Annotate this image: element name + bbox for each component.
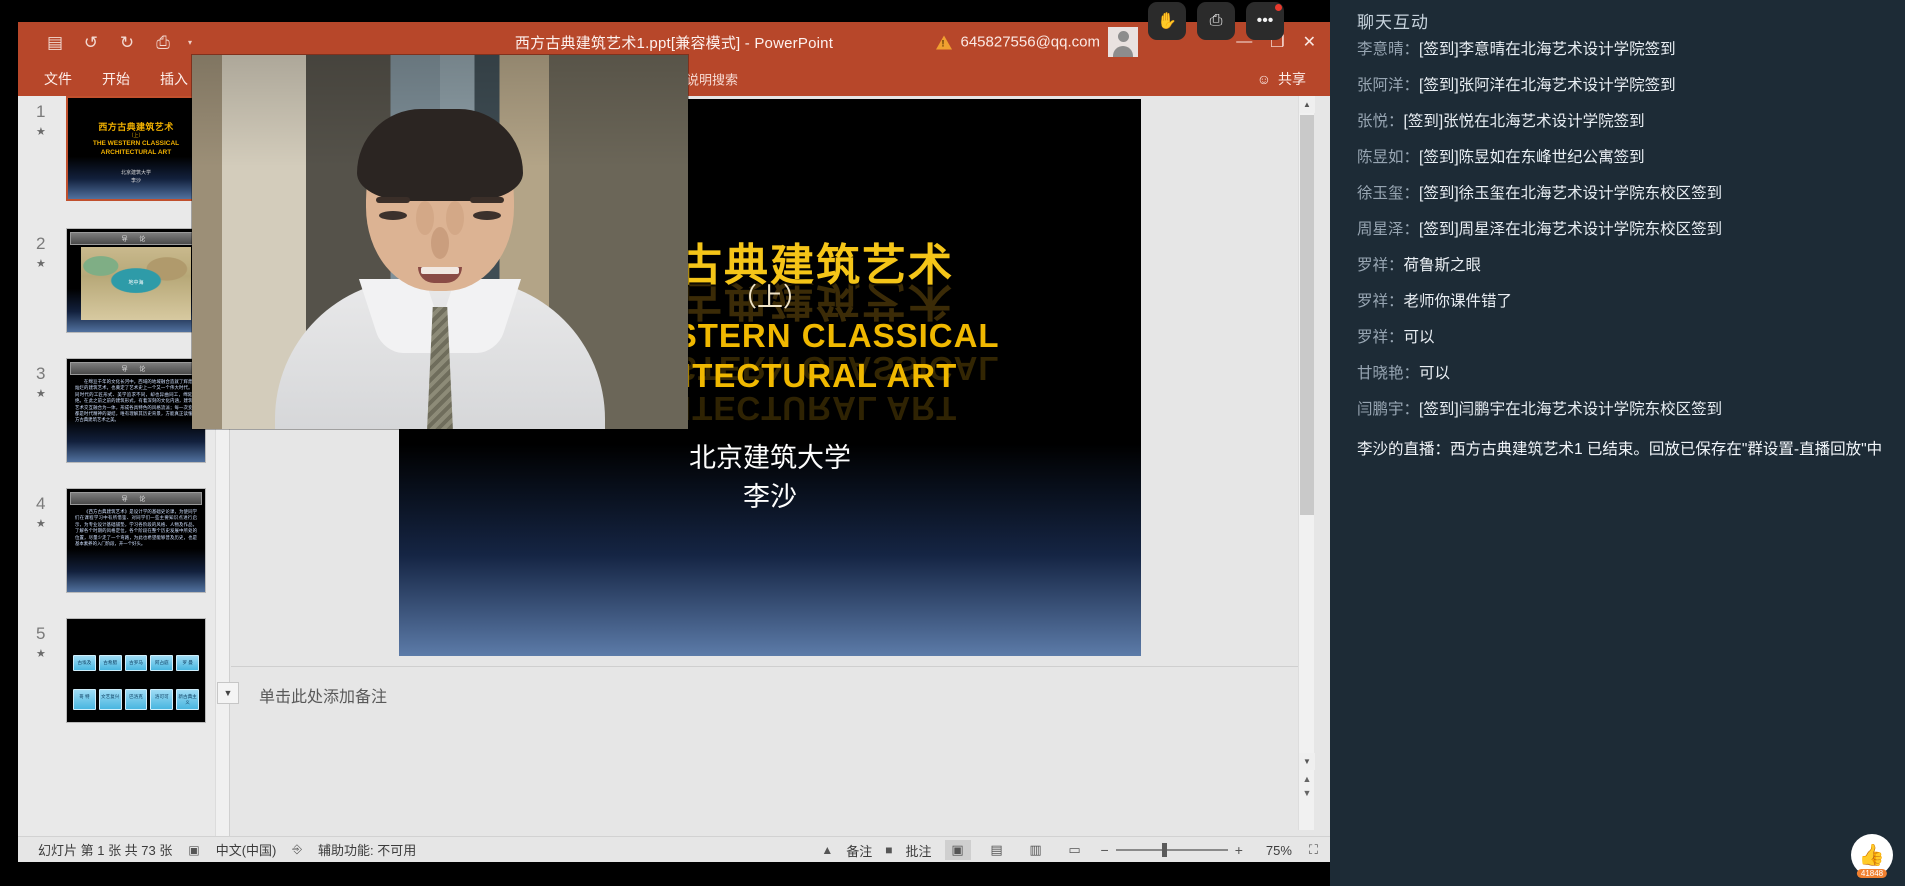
account-email: 645827556@qq.com: [961, 34, 1101, 51]
zoom-level: 75%: [1256, 843, 1292, 858]
thumbnail-item-4[interactable]: 4 ★ 导 论 《西方古典建筑艺术》是设计学的基础史论课，为使同学们在课程学习中…: [18, 488, 229, 616]
chat-message: 罗祥：老师你课件错了: [1357, 290, 1883, 314]
accessibility-icon: ⎆: [292, 842, 302, 857]
thumb-body-text: 《西方古典建筑艺术》是设计学的基础史论课，为使同学们在课程学习中有所借鉴、对同学…: [75, 509, 197, 547]
chat-message: 李意晴：[签到]李意晴在北海艺术设计学院签到: [1357, 38, 1883, 62]
chat-text: 可以: [1419, 365, 1450, 382]
notes-toggle-icon[interactable]: ▲: [821, 843, 833, 857]
chat-message: 罗祥：可以: [1357, 326, 1883, 350]
chat-message: 周星泽：[签到]周星泽在北海艺术设计学院东校区签到: [1357, 218, 1883, 242]
presenter-eye-right: [379, 211, 407, 220]
slide-organization: 北京建筑大学 李沙: [399, 439, 1141, 517]
zoom-slider[interactable]: − +: [1101, 842, 1243, 858]
meeting-float-toolbar: ✋ ⎙ •••: [1148, 2, 1284, 40]
screen: ▤ ↺ ↻ ⎙ ▾ 西方古典建筑艺术1.ppt[兼容模式] - PowerPoi…: [0, 0, 1905, 886]
chevron-down-icon[interactable]: ▾: [188, 38, 192, 47]
notes-collapse-icon[interactable]: ▼: [217, 682, 239, 704]
thumb-title-en-l1: THE WESTERN CLASSICAL: [68, 140, 204, 149]
normal-view-icon[interactable]: ▣: [945, 840, 971, 860]
chat-sender: 罗祥：: [1357, 329, 1404, 346]
chat-message: 张阿洋：[签到]张阿洋在北海艺术设计学院签到: [1357, 74, 1883, 98]
animation-star-icon: ★: [36, 125, 46, 138]
slide-org-line1: 北京建筑大学: [399, 439, 1141, 478]
accessibility-check-icon[interactable]: ▣: [188, 843, 199, 857]
chip: 古罗马: [125, 655, 148, 671]
thumb-title-en-l2: ARCHITECTURAL ART: [68, 149, 204, 158]
slide-counter: 幻灯片 第 1 张 共 73 张: [38, 840, 172, 859]
slideshow-view-icon[interactable]: ▭: [1062, 840, 1088, 860]
desktop-gutter-top: [0, 0, 1330, 22]
chat-sender: 李意晴：: [1357, 41, 1419, 58]
thumb-chip-row-1: 古埃及 古希腊 古罗马 阿占庭 罗 曼: [73, 655, 199, 671]
chip: 古希腊: [99, 655, 122, 671]
chat-sender: 张悦：: [1357, 113, 1404, 130]
notification-dot: [1275, 4, 1282, 11]
close-button[interactable]: ✕: [1303, 32, 1316, 52]
chat-sender: 周星泽：: [1357, 221, 1419, 238]
map-label: 地中海: [81, 279, 191, 286]
save-icon[interactable]: ▤: [44, 31, 66, 53]
account-area[interactable]: 645827556@qq.com: [936, 34, 1101, 51]
chat-sender: 罗祥：: [1357, 293, 1404, 310]
chat-text: [签到]李意晴在北海艺术设计学院签到: [1419, 41, 1676, 58]
mediterranean-map-image: 地中海: [81, 247, 191, 320]
avatar[interactable]: [1108, 27, 1138, 57]
chip: 巴洛克: [125, 689, 148, 710]
slide-sorter-icon[interactable]: ▤: [984, 840, 1010, 860]
chat-panel: 聊天互动 李意晴：[签到]李意晴在北海艺术设计学院签到 张阿洋：[签到]张阿洋在…: [1330, 0, 1905, 886]
chat-sender: 甘晓艳：: [1357, 365, 1419, 382]
like-count: 41848: [1857, 869, 1887, 878]
share-screen-icon[interactable]: ⎙: [1197, 2, 1235, 40]
chat-message: 张悦：[签到]张悦在北海艺术设计学院签到: [1357, 110, 1883, 134]
redo-icon[interactable]: ↻: [116, 31, 138, 53]
animation-star-icon: ★: [36, 257, 46, 270]
presenter-nose: [431, 227, 449, 259]
animation-star-icon: ★: [36, 647, 46, 660]
desktop-gutter-bottom: [0, 862, 1330, 886]
tab-insert[interactable]: 插入: [160, 69, 188, 89]
chat-sender: 闫鹏宇：: [1357, 401, 1419, 418]
chat-text: [签到]陈昱如在东峰世纪公寓签到: [1419, 149, 1645, 166]
chat-text: [签到]张阿洋在北海艺术设计学院签到: [1419, 77, 1676, 94]
animation-star-icon: ★: [36, 387, 46, 400]
reading-view-icon[interactable]: ▥: [1023, 840, 1049, 860]
thumb-footer: 北京建筑大学 李沙: [68, 170, 204, 185]
presenter-teeth: [421, 267, 459, 274]
thumb-sub-cn: （上）: [68, 132, 204, 139]
thumbnail-preview[interactable]: 导 论 在绵亘千年的文化长河中，西域的地域融合造就了辉煌而灿烂的建筑艺术，也奠定…: [66, 358, 206, 463]
chat-message: 罗祥：荷鲁斯之眼: [1357, 254, 1883, 278]
thumbnail-number: 2: [36, 234, 45, 254]
chat-sender: 徐玉玺：: [1357, 185, 1419, 202]
slide-author: 李沙: [399, 478, 1141, 517]
status-bar: 幻灯片 第 1 张 共 73 张 ▣ 中文(中国) ⎆ 辅助功能: 不可用 ▲ …: [18, 836, 1330, 862]
raise-hand-icon[interactable]: ✋: [1148, 2, 1186, 40]
fit-to-window-icon[interactable]: ⛶: [1309, 842, 1318, 858]
zoom-in-button[interactable]: +: [1235, 842, 1243, 858]
chat-panel-title: 聊天互动: [1357, 8, 1429, 33]
thumbs-up-icon[interactable]: 👍 41848: [1851, 834, 1893, 876]
chat-text: [签到]张悦在北海艺术设计学院签到: [1404, 113, 1645, 130]
scroll-thumb[interactable]: [1300, 115, 1314, 515]
chip: 阿占庭: [150, 655, 173, 671]
warning-icon: [936, 35, 952, 49]
notes-pane[interactable]: ▼ 单击此处添加备注: [231, 667, 1314, 830]
share-button[interactable]: ☺ 共享: [1257, 69, 1306, 89]
tab-file[interactable]: 文件: [44, 69, 72, 89]
presenter-head: [366, 109, 514, 291]
comments-icon[interactable]: ■: [885, 843, 892, 857]
thumbnail-item-5[interactable]: 5 ★ 古埃及 古希腊 古罗马 阿占庭 罗 曼 哥: [18, 618, 229, 746]
tab-home[interactable]: 开始: [102, 69, 130, 89]
chat-message: 闫鹏宇：[签到]闫鹏宇在北海艺术设计学院东校区签到: [1357, 398, 1883, 422]
thumbnail-number: 4: [36, 494, 45, 514]
thumb-header: 导 论: [70, 362, 202, 375]
thumb-author: 李沙: [68, 178, 204, 186]
animation-star-icon: ★: [36, 517, 46, 530]
notes-placeholder[interactable]: 单击此处添加备注: [259, 683, 387, 707]
chat-message: 徐玉玺：[签到]徐玉玺在北海艺术设计学院东校区签到: [1357, 182, 1883, 206]
zoom-track[interactable]: [1116, 849, 1228, 851]
chat-sender: 罗祥：: [1357, 257, 1404, 274]
thumb-body-text: 在绵亘千年的文化长河中，西域的地域融合造就了辉煌而灿烂的建筑艺术，也奠定了艺术史…: [75, 379, 197, 424]
chat-text: [签到]周星泽在北海艺术设计学院东校区签到: [1419, 221, 1722, 238]
share-label: 共享: [1278, 69, 1306, 89]
chip: 洛可可: [150, 689, 173, 710]
chat-message: 甘晓艳：可以: [1357, 362, 1883, 386]
chat-text: 荷鲁斯之眼: [1404, 257, 1482, 274]
presenter-shirt: [275, 279, 605, 429]
presenter-hair: [357, 109, 523, 201]
status-left-group: 幻灯片 第 1 张 共 73 张 ▣ 中文(中国) ⎆ 辅助功能: 不可用: [18, 840, 416, 859]
notes-button[interactable]: 备注: [846, 841, 872, 860]
thumbnail-preview[interactable]: 导 论 地中海: [66, 228, 206, 333]
chat-message-list[interactable]: 李意晴：[签到]李意晴在北海艺术设计学院签到 张阿洋：[签到]张阿洋在北海艺术设…: [1357, 38, 1883, 886]
undo-icon[interactable]: ↺: [80, 31, 102, 53]
thumbnail-number: 1: [36, 102, 45, 122]
accessibility-status[interactable]: 辅助功能: 不可用: [318, 840, 416, 859]
thumb-chip-row-2: 哥 特 文艺复兴 巴洛克 洛可可 新古典主义: [73, 689, 199, 710]
more-options-icon[interactable]: •••: [1246, 2, 1284, 40]
thumbs-up-glyph: 👍: [1859, 845, 1885, 866]
chat-text: [签到]徐玉玺在北海艺术设计学院东校区签到: [1419, 185, 1722, 202]
quick-access-toolbar: ▤ ↺ ↻ ⎙ ▾: [18, 31, 192, 53]
desktop-gutter-left: [0, 0, 18, 886]
video-overlay[interactable]: [192, 55, 688, 429]
chip: 罗 曼: [176, 655, 199, 671]
chat-sender: 陈昱如：: [1357, 149, 1419, 166]
thumbnail-number: 5: [36, 624, 45, 644]
chip: 古埃及: [73, 655, 96, 671]
scroll-down-icon[interactable]: ▼: [1299, 753, 1315, 770]
chat-sender: 张阿洋：: [1357, 77, 1419, 94]
zoom-knob[interactable]: [1162, 843, 1167, 857]
add-person-icon: ☺: [1257, 71, 1271, 87]
thumbnail-preview[interactable]: 西方古典建筑艺术 （上） THE WESTERN CLASSICAL ARCHI…: [66, 96, 206, 201]
scroll-up-icon[interactable]: ▲: [1299, 96, 1315, 113]
thumb-org: 北京建筑大学: [68, 170, 204, 178]
presenter-brow-right: [376, 197, 410, 203]
chat-text: 可以: [1404, 329, 1435, 346]
presenter-brow-left: [470, 197, 504, 203]
scroll-extra-controls[interactable]: ▲▼: [1299, 772, 1315, 830]
presenter-eye-left: [473, 211, 501, 220]
thumbnail-number: 3: [36, 364, 45, 384]
thumb-header: 导 论: [70, 232, 202, 245]
thumb-title-en: THE WESTERN CLASSICAL ARCHITECTURAL ART: [68, 140, 204, 158]
thumbnail-preview[interactable]: 导 论 《西方古典建筑艺术》是设计学的基础史论课，为使同学们在课程学习中有所借鉴…: [66, 488, 206, 593]
comments-button[interactable]: 批注: [906, 841, 932, 860]
presenter-ear-left: [446, 201, 464, 235]
chat-system-message: 李沙的直播：西方古典建筑艺术1 已结束。回放已保存在"群设置-直播回放"中: [1357, 438, 1883, 463]
chat-message: 陈昱如：[签到]陈昱如在东峰世纪公寓签到: [1357, 146, 1883, 170]
powerpoint-window: ▤ ↺ ↻ ⎙ ▾ 西方古典建筑艺术1.ppt[兼容模式] - PowerPoi…: [0, 0, 1330, 886]
start-slideshow-icon[interactable]: ⎙: [152, 31, 174, 53]
chat-text: [签到]闫鹏宇在北海艺术设计学院东校区签到: [1419, 401, 1722, 418]
tell-me-search[interactable]: 说明搜索: [686, 70, 738, 89]
chip: 新古典主义: [176, 689, 199, 710]
thumbnail-preview[interactable]: 古埃及 古希腊 古罗马 阿占庭 罗 曼 哥 特 文艺复兴 巴洛克 洛可可: [66, 618, 206, 723]
language-indicator[interactable]: 中文(中国): [216, 840, 277, 859]
chat-text: 老师你课件错了: [1404, 293, 1513, 310]
thumb-header: 导 论: [70, 492, 202, 505]
status-right-group: ▲ 备注 ■ 批注 ▣ ▤ ▥ ▭ − + 75% ⛶: [821, 837, 1318, 863]
chip: 文艺复兴: [99, 689, 122, 710]
chip: 哥 特: [73, 689, 96, 710]
slide-vertical-scrollbar[interactable]: ▲ ▼ ▲▼: [1298, 96, 1314, 830]
presenter-video-figure: [275, 99, 605, 429]
zoom-out-button[interactable]: −: [1101, 842, 1109, 858]
presenter-ear-right: [416, 201, 434, 235]
